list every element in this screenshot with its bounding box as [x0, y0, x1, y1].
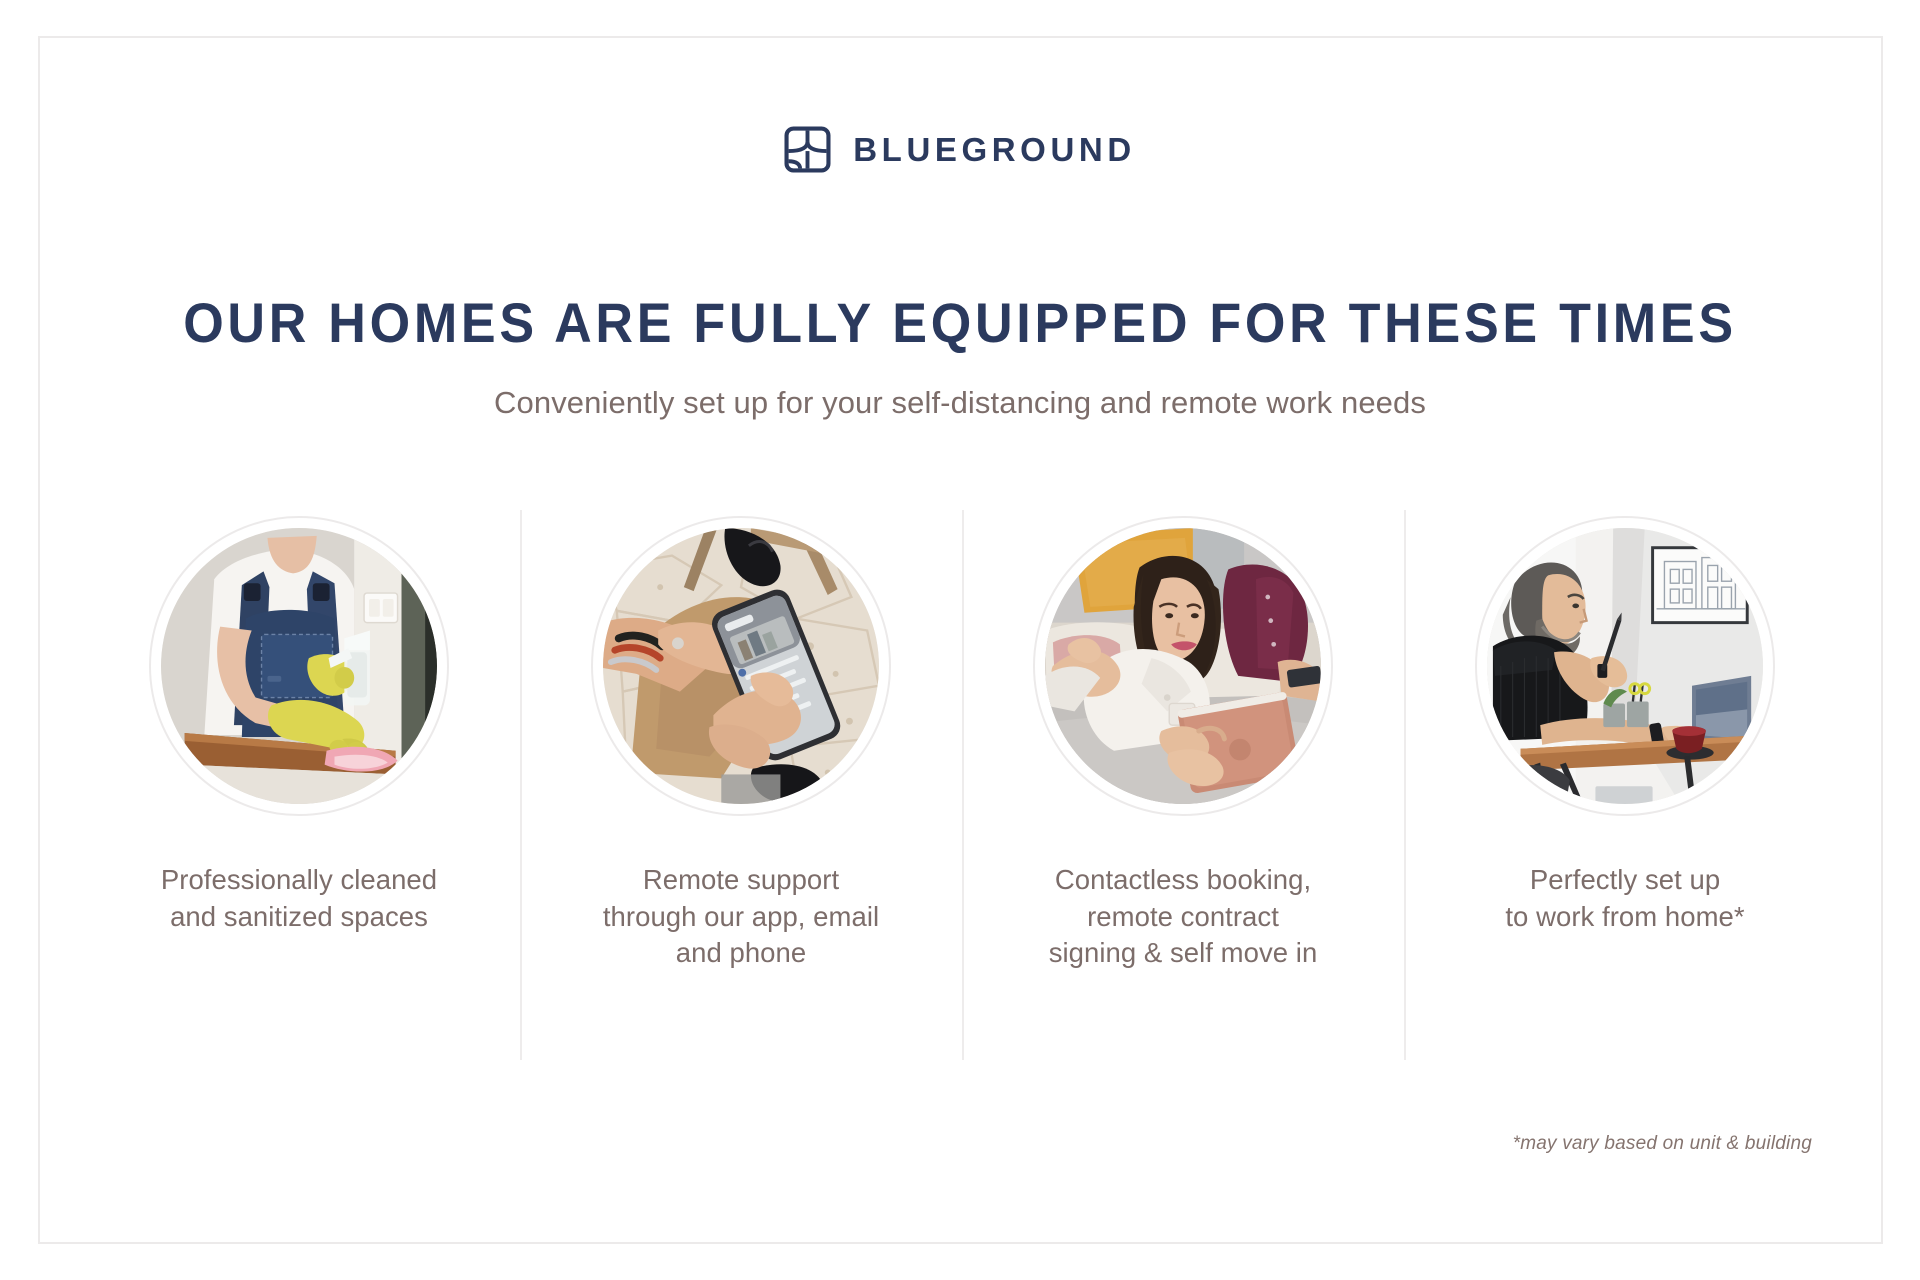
feature-column-work-from-home: Perfectly set up to work from home*	[1404, 510, 1846, 1060]
footnote-disclaimer: *may vary based on unit & building	[1513, 1133, 1812, 1155]
feature-column-support: Remote support through our app, email an…	[520, 510, 962, 1060]
feature-caption: Professionally cleaned and sanitized spa…	[161, 862, 437, 935]
poster: BLUEGROUND OUR HOMES ARE FULLY EQUIPPED …	[0, 0, 1920, 1280]
page-title: OUR HOMES ARE FULLY EQUIPPED FOR THESE T…	[67, 293, 1853, 353]
feature-column-cleaning: Professionally cleaned and sanitized spa…	[78, 510, 520, 1060]
photo-ring	[1475, 516, 1775, 816]
feature-caption: Remote support through our app, email an…	[603, 862, 879, 972]
feature-columns: Professionally cleaned and sanitized spa…	[78, 510, 1846, 1060]
feature-caption: Perfectly set up to work from home*	[1505, 862, 1744, 935]
feature-caption: Contactless booking, remote contract sig…	[1049, 862, 1318, 972]
photo-ring	[591, 516, 891, 816]
page-subtitle: Conveniently set up for your self-distan…	[0, 384, 1920, 423]
feature-column-booking: Contactless booking, remote contract sig…	[962, 510, 1404, 1060]
phone-support-photo	[603, 528, 879, 804]
blueground-square-logo-icon	[784, 126, 831, 173]
photo-ring	[1033, 516, 1333, 816]
tablet-booking-photo	[1045, 528, 1321, 804]
brand-wordmark: BLUEGROUND	[853, 133, 1136, 166]
work-from-home-photo	[1487, 528, 1763, 804]
photo-ring	[149, 516, 449, 816]
cleaning-gloves-photo	[161, 528, 437, 804]
brand-lockup: BLUEGROUND	[0, 126, 1920, 173]
